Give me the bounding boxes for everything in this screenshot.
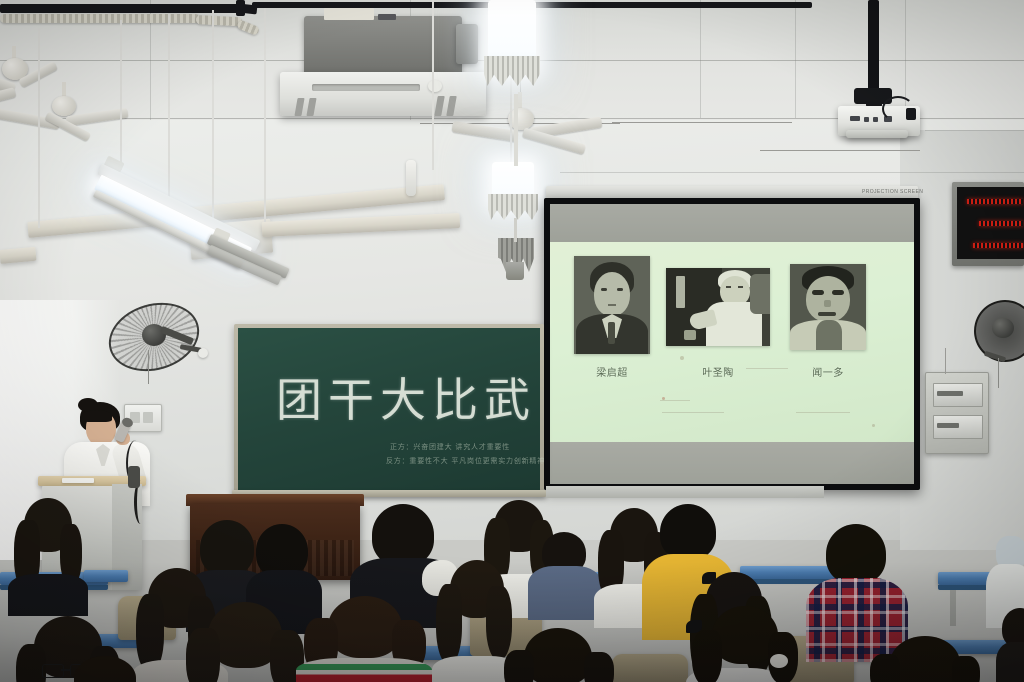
led-text-line bbox=[979, 221, 1023, 226]
slide-letterbox-top bbox=[550, 204, 914, 242]
wall-fan-left bbox=[102, 302, 206, 380]
screen-brand-label: PROJECTION SCREEN bbox=[862, 189, 923, 195]
blackboard-headline: 团干大比武 bbox=[276, 364, 536, 430]
student bbox=[500, 628, 616, 682]
electric-panel[interactable] bbox=[925, 372, 989, 454]
slide-portrait-3 bbox=[790, 264, 866, 350]
panel-wire bbox=[945, 348, 946, 374]
ceiling-wire bbox=[612, 122, 792, 123]
classroom-scene: PROJECTION SCREEN bbox=[0, 0, 1024, 682]
slide-letterbox-bottom bbox=[550, 442, 914, 484]
pendant-rod bbox=[514, 218, 517, 242]
slide-faint-mark bbox=[662, 397, 665, 400]
podium-paper bbox=[62, 478, 94, 483]
ceiling-fan-left-2 bbox=[26, 82, 166, 152]
mic-stand bbox=[128, 466, 140, 488]
student bbox=[60, 656, 152, 682]
pendant-rod bbox=[38, 28, 40, 228]
led-text-line bbox=[973, 243, 1023, 248]
projector-assembly bbox=[826, 0, 956, 150]
led-screen bbox=[957, 187, 1024, 259]
pendant-light-endon-low bbox=[496, 238, 536, 284]
ceiling-seam-v bbox=[700, 0, 701, 118]
blackboard-surface: 团干大比武 正方：兴奋团建大 讲究人才重要性 反方：重要性不大 平凡岗位更需实力… bbox=[238, 328, 540, 490]
student-with-scrunchie bbox=[688, 606, 798, 682]
desk-leg bbox=[950, 590, 956, 626]
slide-caption-3: 闻一多 bbox=[790, 364, 866, 379]
student bbox=[996, 608, 1024, 682]
slide-caption-2: 叶圣陶 bbox=[666, 364, 770, 379]
pendant-rod bbox=[514, 94, 518, 166]
slide-faint-mark bbox=[872, 424, 875, 427]
slide-portrait-2 bbox=[666, 268, 770, 346]
led-sign bbox=[952, 182, 1024, 266]
chair-back bbox=[612, 654, 688, 682]
wall-tube-fixture bbox=[406, 160, 416, 196]
pendant-rod bbox=[120, 20, 122, 170]
slide-faint-mark bbox=[662, 412, 724, 413]
flexible-duct bbox=[0, 14, 200, 23]
student bbox=[8, 498, 86, 608]
screen-surface: 梁启超 叶圣陶 闻一多 bbox=[550, 204, 914, 484]
student bbox=[186, 602, 304, 682]
pendant-rod bbox=[168, 14, 170, 206]
pendant-rod bbox=[432, 0, 434, 170]
blackboard-note-1: 正方：兴奋团建大 讲究人才重要性 bbox=[390, 442, 510, 452]
projection-screen[interactable]: 梁启超 叶圣陶 闻一多 bbox=[544, 198, 920, 490]
slide-portrait-1 bbox=[574, 256, 650, 354]
blackboard-note-2: 反方：重要性不大 平凡岗位更需实力创新精神 bbox=[386, 456, 545, 466]
wall-trim bbox=[546, 486, 824, 498]
wall-seam bbox=[560, 172, 1024, 173]
ceiling-conduit bbox=[0, 4, 246, 13]
pendant-rod bbox=[212, 10, 214, 242]
slide-faint-mark bbox=[680, 356, 684, 360]
pendant-rod bbox=[264, 8, 266, 222]
slide-content: 梁启超 叶圣陶 闻一多 bbox=[550, 242, 914, 442]
slide-faint-mark bbox=[660, 400, 690, 401]
slide-faint-mark bbox=[746, 368, 788, 369]
slide-caption-1: 梁启超 bbox=[574, 364, 650, 379]
student-rainbow-stripes bbox=[296, 596, 430, 682]
desk bbox=[84, 570, 128, 582]
led-text-line bbox=[967, 199, 1023, 204]
pendant-light-endon-top bbox=[482, 0, 544, 96]
slide-faint-mark bbox=[796, 412, 850, 413]
student bbox=[528, 532, 600, 614]
blackboard[interactable]: 团干大比武 正方：兴奋团建大 讲究人才重要性 反方：重要性不大 平凡岗位更需实力… bbox=[234, 324, 544, 494]
student bbox=[870, 636, 978, 682]
air-conditioner bbox=[276, 0, 492, 124]
ceiling-seam-v bbox=[795, 0, 796, 118]
ceiling-wire bbox=[760, 150, 920, 151]
